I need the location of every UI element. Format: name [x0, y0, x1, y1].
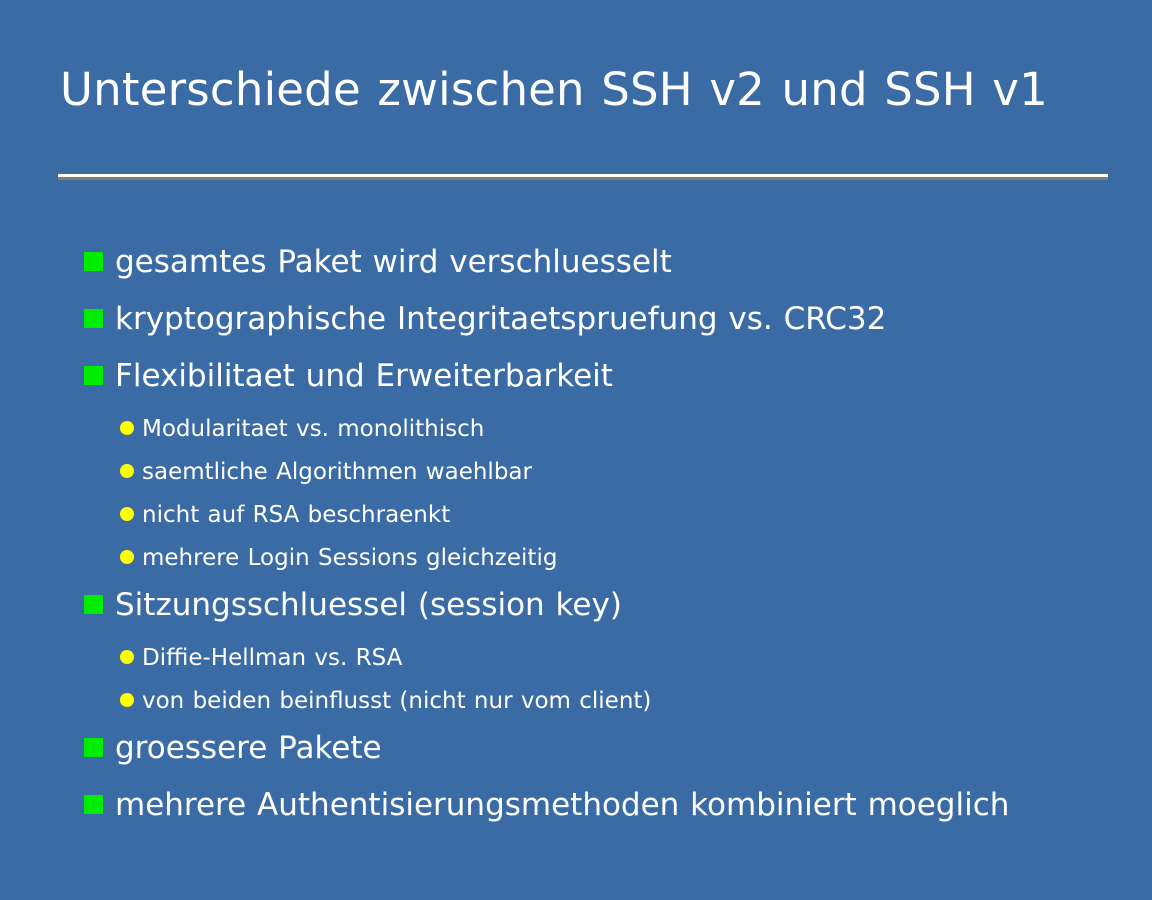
bullet-item-level1: gesamtes Paket wird verschluesselt	[84, 238, 1094, 287]
page-title: Unterschiede zwischen SSH v2 und SSH v1	[60, 62, 1112, 118]
bullet-text: Flexibilitaet und Erweiterbarkeit	[115, 352, 613, 401]
bullet-text: kryptographische Integritaetspruefung vs…	[115, 295, 886, 344]
square-bullet-icon	[84, 738, 103, 757]
bullet-text: Sitzungsschluessel (session key)	[115, 581, 622, 630]
title-divider-rule	[58, 174, 1108, 180]
circle-bullet-icon	[120, 650, 134, 664]
bullet-item-level2: Modularitaet vs. monolithisch	[84, 409, 1094, 449]
bullet-item-level1: groessere Pakete	[84, 724, 1094, 773]
square-bullet-icon	[84, 366, 103, 385]
bullet-text: gesamtes Paket wird verschluesselt	[115, 238, 672, 287]
bullet-item-level2: mehrere Login Sessions gleichzeitig	[84, 538, 1094, 578]
circle-bullet-icon	[120, 507, 134, 521]
bullet-item-level2: von beiden beinflusst (nicht nur vom cli…	[84, 681, 1094, 721]
bullet-text: groessere Pakete	[115, 724, 382, 773]
bullet-item-level1: Flexibilitaet und Erweiterbarkeit	[84, 352, 1094, 401]
square-bullet-icon	[84, 252, 103, 271]
circle-bullet-icon	[120, 693, 134, 707]
circle-bullet-icon	[120, 550, 134, 564]
bullet-item-level2: Diffie-Hellman vs. RSA	[84, 638, 1094, 678]
bullet-text: Diffie-Hellman vs. RSA	[142, 638, 402, 678]
square-bullet-icon	[84, 595, 103, 614]
presentation-slide: Unterschiede zwischen SSH v2 und SSH v1 …	[0, 0, 1152, 900]
bullet-item-level2: saemtliche Algorithmen waehlbar	[84, 452, 1094, 492]
square-bullet-icon	[84, 309, 103, 328]
bullet-item-level1: Sitzungsschluessel (session key)	[84, 581, 1094, 630]
slide-title-block: Unterschiede zwischen SSH v2 und SSH v1	[60, 62, 1112, 118]
divider-shadow	[58, 177, 1108, 180]
slide-bullet-list: gesamtes Paket wird verschluesseltkrypto…	[84, 238, 1094, 838]
bullet-item-level1: mehrere Authentisierungsmethoden kombini…	[84, 781, 1094, 830]
bullet-text: mehrere Login Sessions gleichzeitig	[142, 538, 557, 578]
square-bullet-icon	[84, 795, 103, 814]
bullet-text: von beiden beinflusst (nicht nur vom cli…	[142, 681, 651, 721]
bullet-text: mehrere Authentisierungsmethoden kombini…	[115, 781, 1009, 830]
bullet-text: saemtliche Algorithmen waehlbar	[142, 452, 532, 492]
bullet-item-level2: nicht auf RSA beschraenkt	[84, 495, 1094, 535]
circle-bullet-icon	[120, 421, 134, 435]
bullet-item-level1: kryptographische Integritaetspruefung vs…	[84, 295, 1094, 344]
bullet-text: nicht auf RSA beschraenkt	[142, 495, 450, 535]
circle-bullet-icon	[120, 464, 134, 478]
bullet-text: Modularitaet vs. monolithisch	[142, 409, 484, 449]
